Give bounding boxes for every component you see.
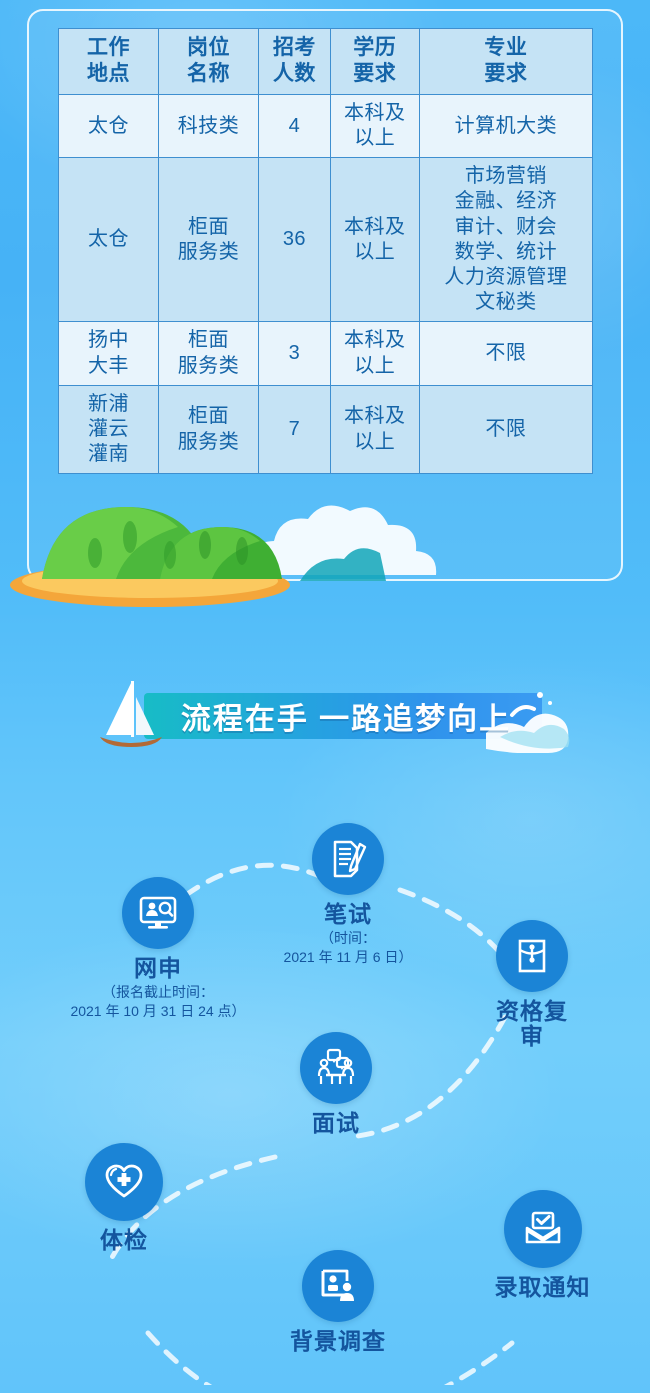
foliage-dot (88, 538, 102, 568)
process-banner: 流程在手 一路追梦向上 (92, 677, 562, 753)
table-row: 新浦 灌云 灌南 柜面 服务类 7 本科及 以上 不限 (59, 385, 593, 474)
document-pencil-icon (327, 838, 369, 880)
header-line-1: 工作 (61, 35, 156, 61)
process-step-background-check[interactable]: 背景调查 (283, 1250, 393, 1354)
cell-education: 本科及 以上 (330, 158, 419, 322)
cell-line: 扬中 (61, 328, 156, 353)
step-label: 笔试 (268, 902, 428, 927)
step-icon-badge (312, 823, 384, 895)
cell-location: 新浦 灌云 灌南 (59, 385, 159, 474)
step-label: 背景调查 (283, 1329, 393, 1354)
step-label: 网申 (68, 956, 248, 981)
cell-line: 服务类 (161, 240, 256, 265)
step-label: 面试 (296, 1111, 376, 1136)
step-subtext-line: 2021 年 11 月 6 日） (268, 948, 428, 967)
cell-line: 柜面 (161, 215, 256, 240)
cell-line: 以上 (333, 354, 417, 379)
header-line-1: 岗位 (161, 35, 256, 61)
cell-line: 服务类 (161, 354, 256, 379)
banner-title: 流程在手 一路追梦向上 (150, 693, 542, 739)
process-step-interview[interactable]: 面试 (296, 1032, 376, 1136)
monitor-person-search-icon (136, 891, 180, 935)
step-icon-badge (122, 877, 194, 949)
step-icon-badge (85, 1143, 163, 1221)
cell-line: 灌南 (61, 442, 156, 467)
table-row: 太仓 柜面 服务类 36 本科及 以上 市场营销 金融、经济 审计、财会 数学、… (59, 158, 593, 322)
recruitment-table-section: 工作 地点 岗位 名称 招考 人数 学历 要求 专业 要求 太仓 (0, 0, 650, 615)
cell-education: 本科及 以上 (330, 322, 419, 385)
cell-line: 以上 (333, 126, 417, 151)
step-label: 体检 (84, 1228, 164, 1253)
cell-line: 柜面 (161, 404, 256, 429)
cell-count: 3 (258, 322, 330, 385)
cell-line: 市场营销 (422, 164, 590, 189)
cell-line: 新浦 (61, 392, 156, 417)
step-icon-badge (300, 1032, 372, 1104)
cell-line: 不限 (422, 417, 590, 442)
header-line-2: 人数 (261, 61, 328, 87)
cell-position: 柜面 服务类 (158, 322, 258, 385)
cell-line: 太仓 (61, 114, 156, 139)
header-line-2: 要求 (422, 61, 590, 87)
step-subtext: （报名截止时间： 2021 年 10 月 31 日 24 点） (68, 983, 248, 1021)
step-icon-badge (496, 920, 568, 992)
foliage-dot (236, 537, 248, 565)
cell-line: 大丰 (61, 354, 156, 379)
header-line-2: 地点 (61, 61, 156, 87)
process-step-written-exam[interactable]: 笔试 （时间： 2021 年 11 月 6 日） (268, 823, 428, 967)
cell-line: 本科及 (333, 215, 417, 240)
cell-line: 不限 (422, 341, 590, 366)
foliage-dot (123, 521, 137, 553)
header-line-2: 要求 (333, 61, 417, 87)
cell-line: 计算机大类 (422, 114, 590, 139)
cell-location: 扬中 大丰 (59, 322, 159, 385)
island-illustration (0, 465, 650, 615)
cell-position: 柜面 服务类 (158, 158, 258, 322)
header-line-1: 招考 (261, 35, 328, 61)
process-step-medical-exam[interactable]: 体检 (84, 1143, 164, 1253)
cell-location: 太仓 (59, 94, 159, 157)
foliage-dot (164, 541, 176, 569)
cell-major: 计算机大类 (419, 94, 592, 157)
cell-line: 灌云 (61, 417, 156, 442)
cell-count: 4 (258, 94, 330, 157)
step-subtext-line: （报名截止时间： (68, 983, 248, 1002)
process-step-qualification-review[interactable]: 资格复审 (492, 920, 572, 1050)
cell-education: 本科及 以上 (330, 385, 419, 474)
step-subtext: （时间： 2021 年 11 月 6 日） (268, 929, 428, 967)
envelope-check-icon (522, 1208, 564, 1250)
cell-line: 以上 (333, 430, 417, 455)
cell-major: 不限 (419, 385, 592, 474)
envelope-document-icon (512, 936, 552, 976)
cell-line: 以上 (333, 240, 417, 265)
step-label: 录取通知 (470, 1275, 615, 1300)
cell-line: 审计、财会 (422, 215, 590, 240)
interview-table-icon (314, 1046, 358, 1090)
header-line-1: 学历 (333, 35, 417, 61)
cell-line: 本科及 (333, 328, 417, 353)
heart-cross-icon (103, 1161, 145, 1203)
cell-count: 36 (258, 158, 330, 322)
cell-line: 科技类 (161, 114, 256, 139)
recruitment-process-section: 流程在手 一路追梦向上 网申 （报名截止时间： (0, 615, 650, 1393)
cell-line: 太仓 (61, 227, 156, 252)
cell-count: 7 (258, 385, 330, 474)
id-card-person-icon (317, 1265, 359, 1307)
header-line-1: 专业 (422, 35, 590, 61)
step-subtext-line: 2021 年 10 月 31 日 24 点） (68, 1002, 248, 1021)
cell-line: 服务类 (161, 430, 256, 455)
step-icon-badge (504, 1190, 582, 1268)
table-header-row: 工作 地点 岗位 名称 招考 人数 学历 要求 专业 要求 (59, 29, 593, 95)
column-header-major: 专业 要求 (419, 29, 592, 95)
process-step-offer-notice[interactable]: 录取通知 (470, 1190, 615, 1300)
cell-line: 人力资源管理 (422, 265, 590, 290)
cell-line: 柜面 (161, 328, 256, 353)
cell-major: 不限 (419, 322, 592, 385)
column-header-count: 招考 人数 (258, 29, 330, 95)
column-header-position: 岗位 名称 (158, 29, 258, 95)
table-row: 太仓 科技类 4 本科及 以上 计算机大类 (59, 94, 593, 157)
job-positions-table: 工作 地点 岗位 名称 招考 人数 学历 要求 专业 要求 太仓 (58, 28, 593, 474)
header-line-2: 名称 (161, 61, 256, 87)
cell-position: 科技类 (158, 94, 258, 157)
cell-line: 本科及 (333, 404, 417, 429)
step-label: 资格复审 (494, 999, 570, 1050)
column-header-education: 学历 要求 (330, 29, 419, 95)
foliage-dot (199, 531, 211, 559)
cell-location: 太仓 (59, 158, 159, 322)
cell-position: 柜面 服务类 (158, 385, 258, 474)
cell-line: 金融、经济 (422, 189, 590, 214)
cell-line: 数学、统计 (422, 240, 590, 265)
cell-line: 文秘类 (422, 290, 590, 315)
step-icon-badge (302, 1250, 374, 1322)
cell-line: 本科及 (333, 101, 417, 126)
process-step-online-application[interactable]: 网申 （报名截止时间： 2021 年 10 月 31 日 24 点） (68, 877, 248, 1021)
cell-major: 市场营销 金融、经济 审计、财会 数学、统计 人力资源管理 文秘类 (419, 158, 592, 322)
step-subtext-line: （时间： (268, 929, 428, 948)
table-row: 扬中 大丰 柜面 服务类 3 本科及 以上 不限 (59, 322, 593, 385)
column-header-location: 工作 地点 (59, 29, 159, 95)
cell-education: 本科及 以上 (330, 94, 419, 157)
connector-6 (392, 1343, 512, 1385)
